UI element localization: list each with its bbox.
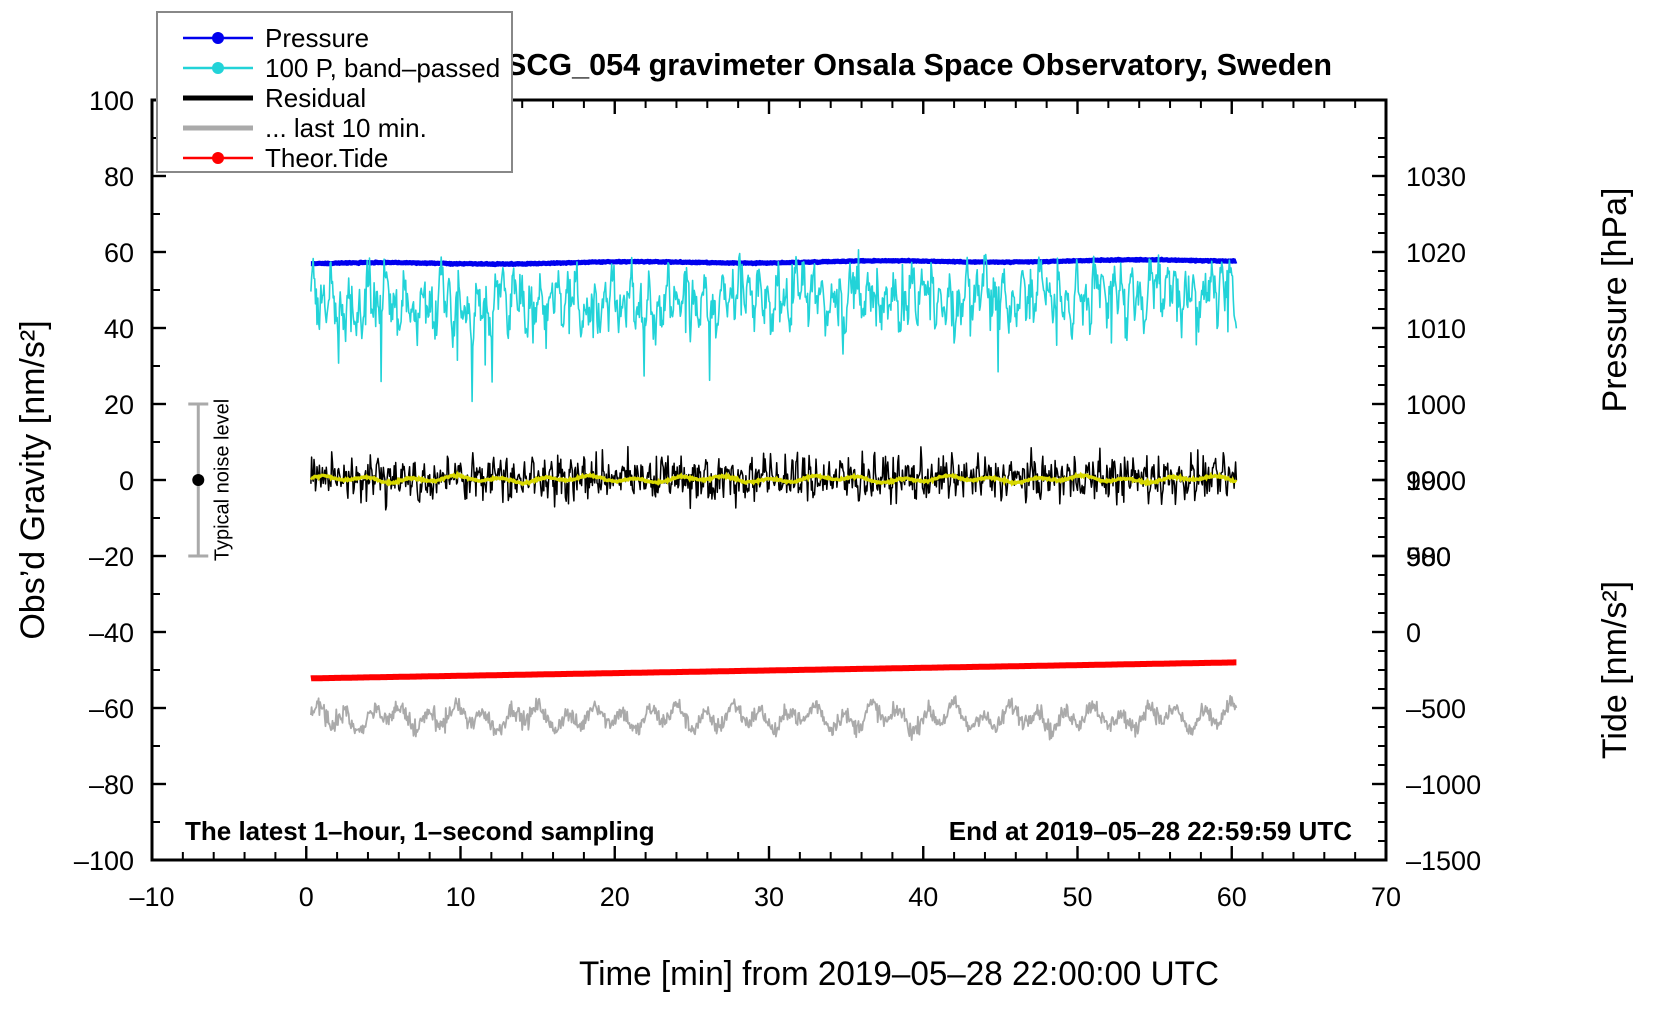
series-bandpass: [311, 250, 1237, 402]
legend-marker-1: [212, 62, 224, 74]
annotation-bottom-right: End at 2019–05–28 22:59:59 UTC: [949, 816, 1352, 846]
tide-tick-label: 1000: [1406, 466, 1466, 496]
tide-tick-label: –500: [1406, 694, 1466, 724]
gravimeter-plot: –10010203040506070–100–80–60–40–20020406…: [0, 0, 1660, 1020]
x-tick-label: 0: [299, 882, 314, 912]
tide-tick-label: –1500: [1406, 846, 1481, 876]
x-tick-label: 30: [754, 882, 784, 912]
annotation-bottom-left: The latest 1–hour, 1–second sampling: [185, 816, 655, 846]
pressure-tick-label: 1030: [1406, 162, 1466, 192]
noise-center-dot: [192, 474, 204, 486]
x-tick-label: 10: [445, 882, 475, 912]
y-tick-label: 0: [119, 466, 134, 496]
y-tick-label: –60: [89, 694, 134, 724]
legend-label-4: Theor.Tide: [265, 143, 388, 173]
x-axis-title: Time [min] from 2019–05–28 22:00:00 UTC: [579, 955, 1219, 993]
x-tick-label: 60: [1217, 882, 1247, 912]
pressure-axis-title: Pressure [hPa]: [1596, 188, 1634, 413]
chart-title: SCG_054 gravimeter Onsala Space Observat…: [506, 47, 1332, 82]
y-tick-label: –20: [89, 542, 134, 572]
noise-level-label: Typical noise level: [211, 399, 233, 561]
tide-axis-title: Tide [nm/s²]: [1596, 581, 1634, 759]
series-last10: [311, 696, 1237, 740]
x-tick-label: 40: [908, 882, 938, 912]
y-axis-title: Obs’d Gravity [nm/s²]: [14, 320, 52, 639]
y-tick-label: –40: [89, 618, 134, 648]
pressure-tick-label: 1000: [1406, 390, 1466, 420]
series-pressure: [311, 259, 1237, 265]
x-tick-label: 50: [1062, 882, 1092, 912]
y-tick-label: –100: [74, 846, 134, 876]
legend-marker-0: [212, 32, 224, 44]
x-tick-label: –10: [129, 882, 174, 912]
legend-label-1: 100 P, band–passed: [265, 53, 500, 83]
legend-label-0: Pressure: [265, 23, 369, 53]
pressure-tick-label: 1020: [1406, 238, 1466, 268]
tide-tick-label: 0: [1406, 618, 1421, 648]
x-tick-label: 70: [1371, 882, 1401, 912]
legend-label-3: ... last 10 min.: [265, 113, 427, 143]
y-tick-label: 80: [104, 162, 134, 192]
legend-marker-4: [212, 152, 224, 164]
y-tick-label: –80: [89, 770, 134, 800]
y-tick-label: 60: [104, 238, 134, 268]
legend-label-2: Residual: [265, 83, 366, 113]
tide-tick-label: 500: [1406, 542, 1451, 572]
chart-canvas: –10010203040506070–100–80–60–40–20020406…: [0, 0, 1660, 1020]
x-tick-label: 20: [600, 882, 630, 912]
y-tick-label: 100: [89, 86, 134, 116]
pressure-tick-label: 1010: [1406, 314, 1466, 344]
tide-tick-label: –1000: [1406, 770, 1481, 800]
y-tick-label: 40: [104, 314, 134, 344]
series-tide: [311, 662, 1237, 678]
y-tick-label: 20: [104, 390, 134, 420]
